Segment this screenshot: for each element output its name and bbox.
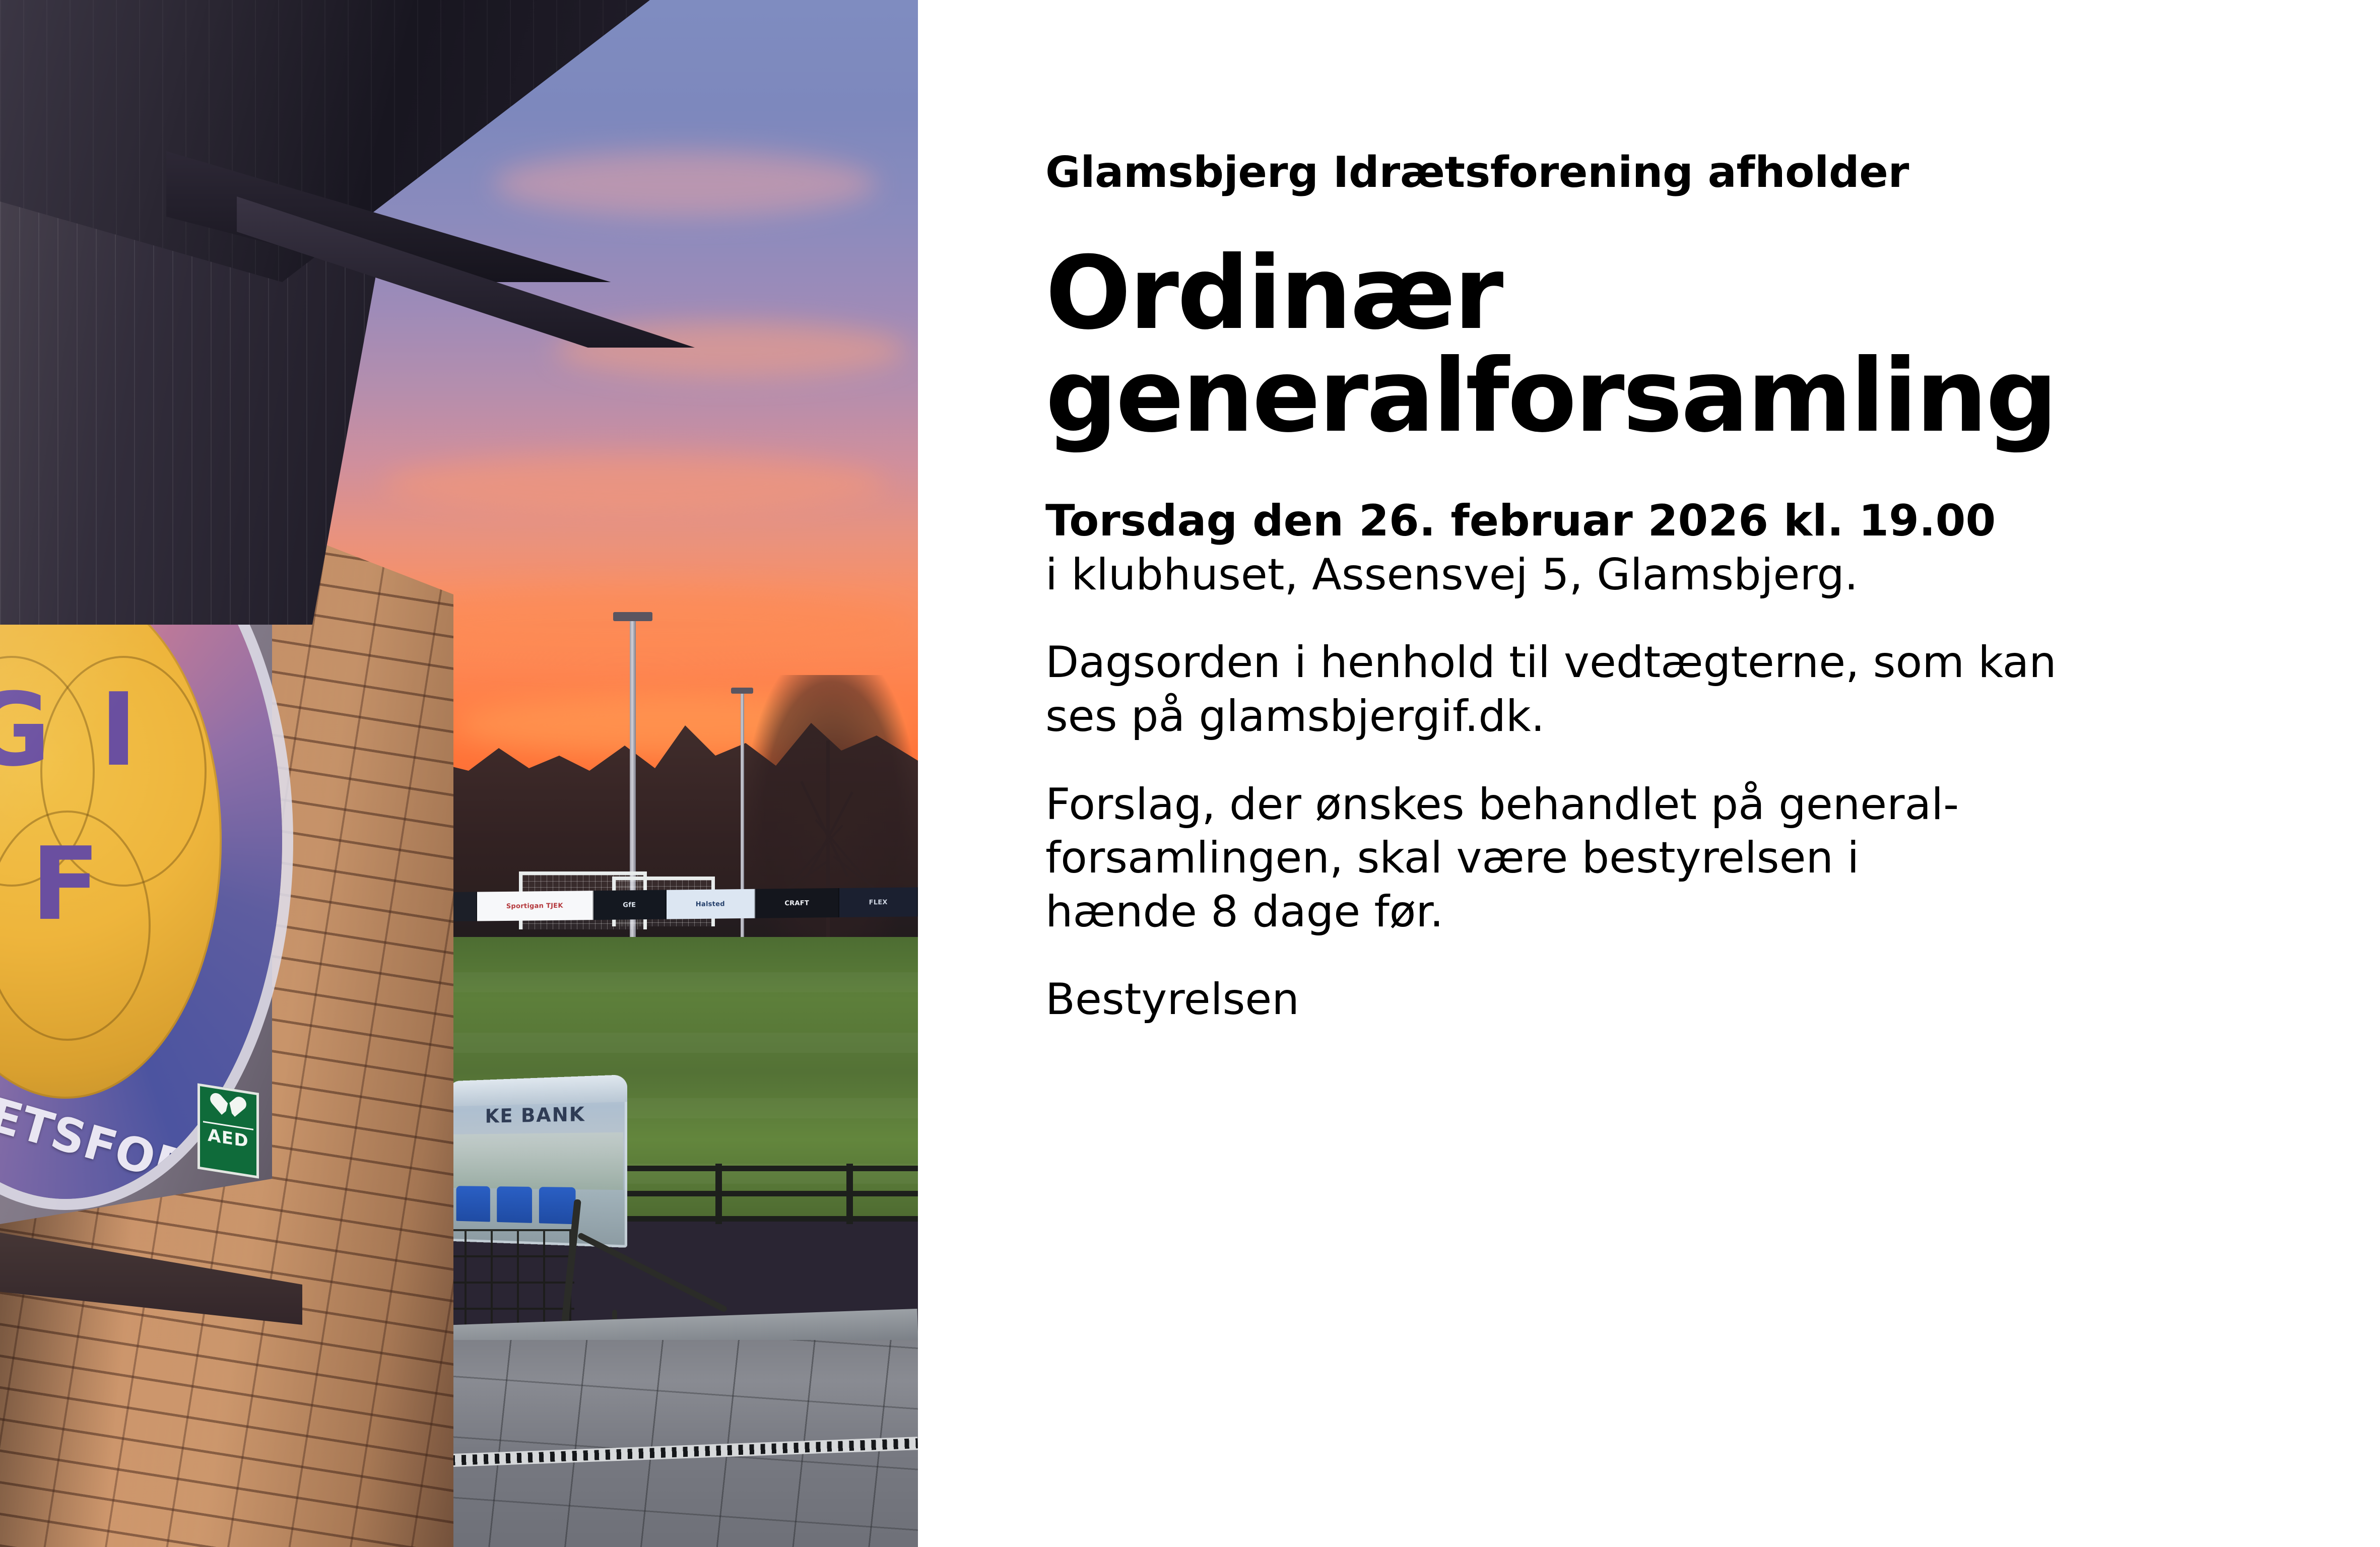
seat bbox=[497, 1186, 532, 1223]
ad-board: CRAFT bbox=[755, 888, 839, 918]
dugout-seats bbox=[456, 1186, 576, 1224]
handrail bbox=[577, 1232, 728, 1313]
organisation-kicker: Glamsbjerg Idrætsforening afholder bbox=[1045, 151, 2380, 194]
dugout-shelter: KE BANK bbox=[448, 1074, 627, 1248]
headline-line-1: Ordinær bbox=[1045, 235, 1502, 352]
floodlight-head bbox=[731, 688, 753, 694]
meeting-datetime-block: Torsdag den 26. februar 2026 kl. 19.00 i… bbox=[1045, 494, 2255, 601]
signature-block: Bestyrelsen bbox=[1045, 973, 2255, 1027]
dugout-sponsor-text: KE BANK bbox=[448, 1102, 627, 1127]
cloud-streak bbox=[383, 453, 887, 514]
proposals-line-1: Forslag, der ønskes behandlet på general… bbox=[1045, 778, 2255, 832]
page-title: Ordinær generalforsamling bbox=[1045, 242, 2224, 448]
lightning-bolt-icon bbox=[225, 1099, 232, 1115]
announcement-text-panel: Glamsbjerg Idrætsforening afholder Ordin… bbox=[918, 0, 2380, 1547]
poster: DBS Sportigan TJEK GfE Halsted CRAFT FLE… bbox=[0, 0, 2380, 1547]
ad-board: Sportigan TJEK bbox=[477, 891, 593, 921]
meeting-datetime: Torsdag den 26. februar 2026 kl. 19.00 bbox=[1045, 494, 2255, 548]
logo-letter-i: I bbox=[72, 671, 165, 789]
proposals-line-2: forsamlingen, skal være bestyrelsen i bbox=[1045, 831, 2255, 885]
meeting-venue: i klubhuset, Assensvej 5, Glamsbjerg. bbox=[1045, 548, 2255, 602]
seat bbox=[456, 1186, 490, 1222]
ad-board: Halsted bbox=[667, 889, 756, 919]
aed-sign: AED bbox=[197, 1083, 259, 1178]
floodlight-head bbox=[613, 612, 652, 621]
signature: Bestyrelsen bbox=[1045, 973, 2255, 1027]
agenda-line-1: Dagsorden i henhold til vedtægterne, som… bbox=[1045, 636, 2255, 690]
aed-sign-label: AED bbox=[203, 1121, 254, 1153]
ad-board: GfE bbox=[593, 890, 667, 920]
seat bbox=[539, 1187, 576, 1224]
agenda-block: Dagsorden i henhold til vedtægterne, som… bbox=[1045, 636, 2255, 743]
heart-icon bbox=[215, 1094, 241, 1123]
club-photo: DBS Sportigan TJEK GfE Halsted CRAFT FLE… bbox=[0, 0, 918, 1547]
agenda-line-2: ses på glamsbjergif.dk. bbox=[1045, 690, 2255, 744]
proposals-line-3: hænde 8 dage før. bbox=[1045, 885, 2255, 939]
floodlight-mast bbox=[741, 693, 744, 967]
proposals-block: Forslag, der ønskes behandlet på general… bbox=[1045, 778, 2255, 939]
dugout-glass bbox=[451, 1132, 623, 1190]
headline-line-2: generalforsamling bbox=[1045, 338, 2056, 455]
ad-board: FLEX bbox=[839, 887, 918, 917]
logo-letter-g: G bbox=[0, 671, 72, 789]
logo-letter-f: F bbox=[10, 826, 122, 943]
cloud-streak bbox=[494, 151, 877, 217]
